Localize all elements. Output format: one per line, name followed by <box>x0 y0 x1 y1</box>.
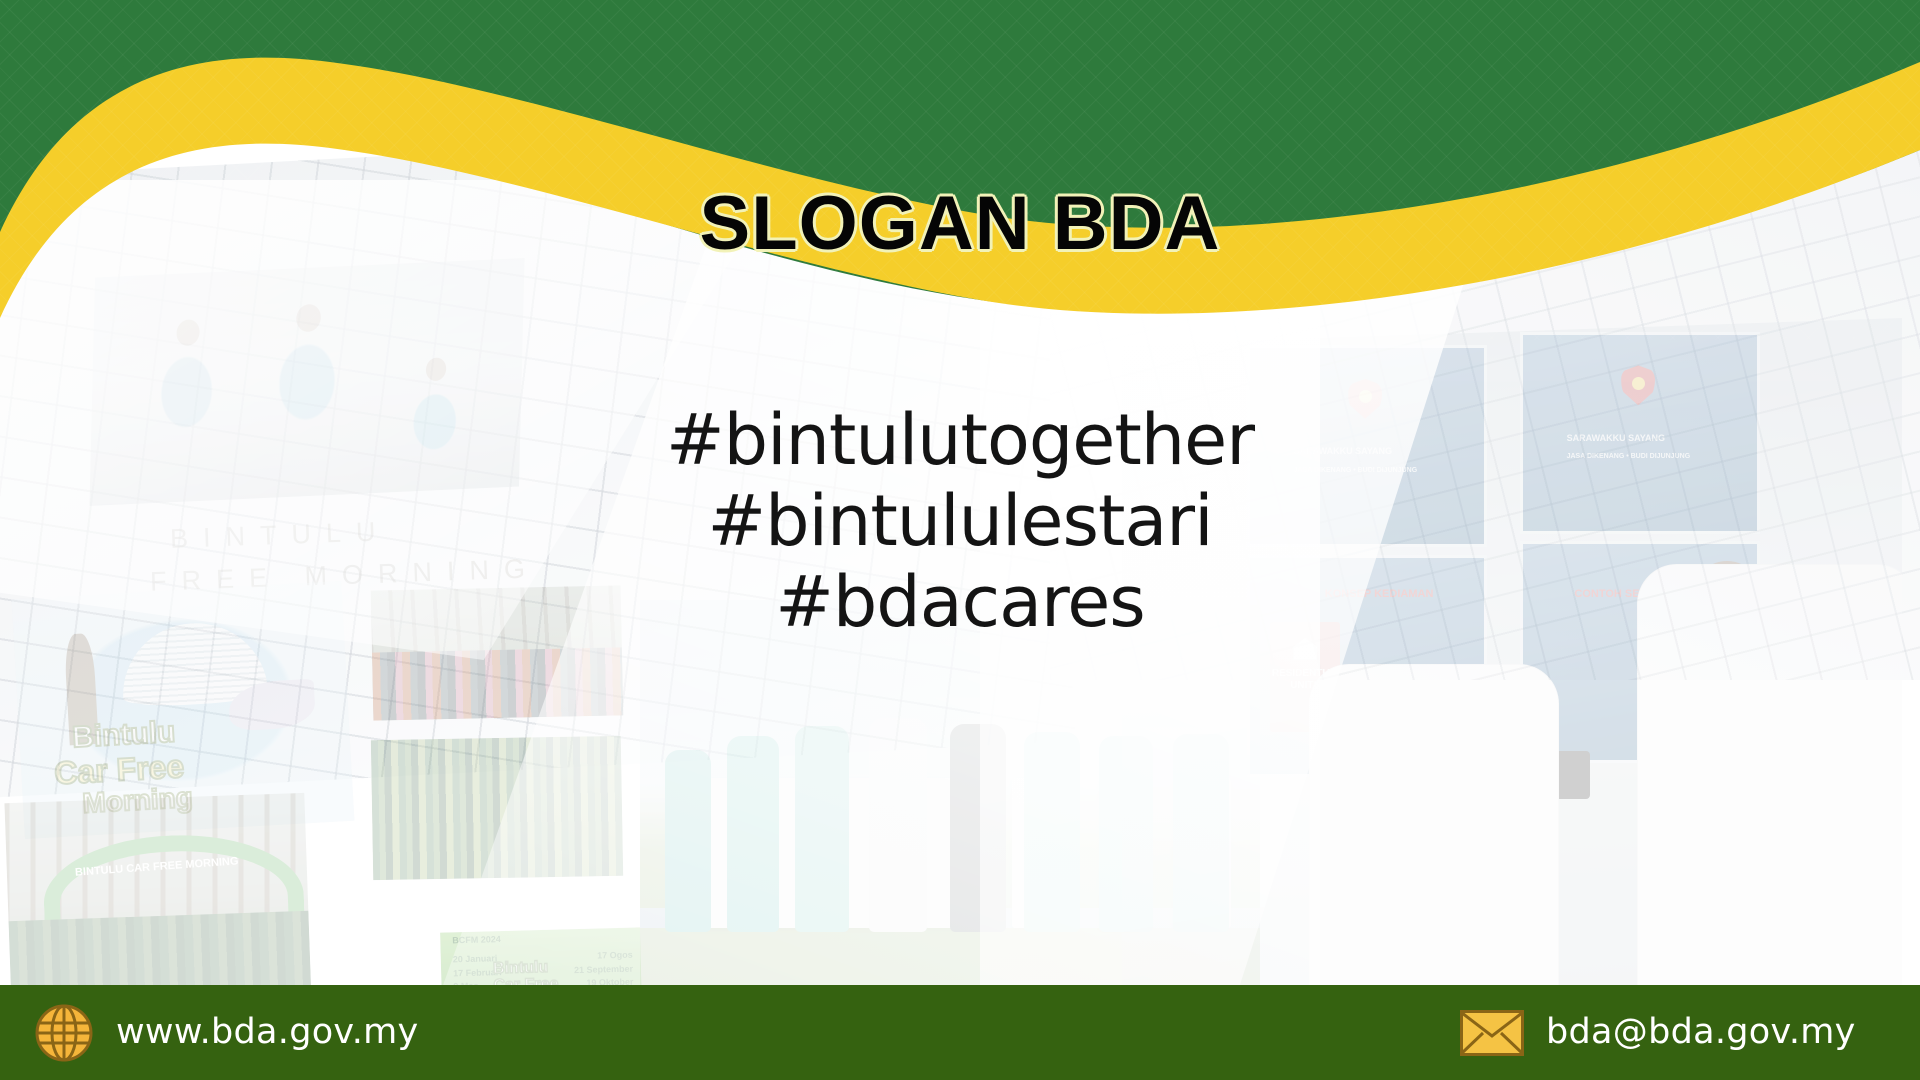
hashtag-list: #bintulutogether #bintululestari #bdacar… <box>0 400 1920 644</box>
page-title: SLOGAN BDA <box>0 186 1920 262</box>
website-label[interactable]: www.bda.gov.my <box>116 1015 419 1050</box>
hashtag-item-2: #bintululestari <box>0 481 1920 562</box>
header-wave-band <box>0 0 1920 340</box>
envelope-icon <box>1460 1010 1524 1056</box>
hashtag-item-1: #bintulutogether <box>0 400 1920 481</box>
footer-bar: www.bda.gov.my bda@bda.gov.my <box>0 985 1920 1080</box>
footer-website[interactable]: www.bda.gov.my <box>34 985 419 1080</box>
email-label[interactable]: bda@bda.gov.my <box>1546 1015 1856 1050</box>
hashtag-item-3: #bdacares <box>0 562 1920 643</box>
poster-canvas: BINTULU FREE MORNING Bintulu Car Free Mo… <box>0 0 1920 1080</box>
globe-icon <box>34 1003 94 1063</box>
footer-email[interactable]: bda@bda.gov.my <box>1460 985 1856 1080</box>
